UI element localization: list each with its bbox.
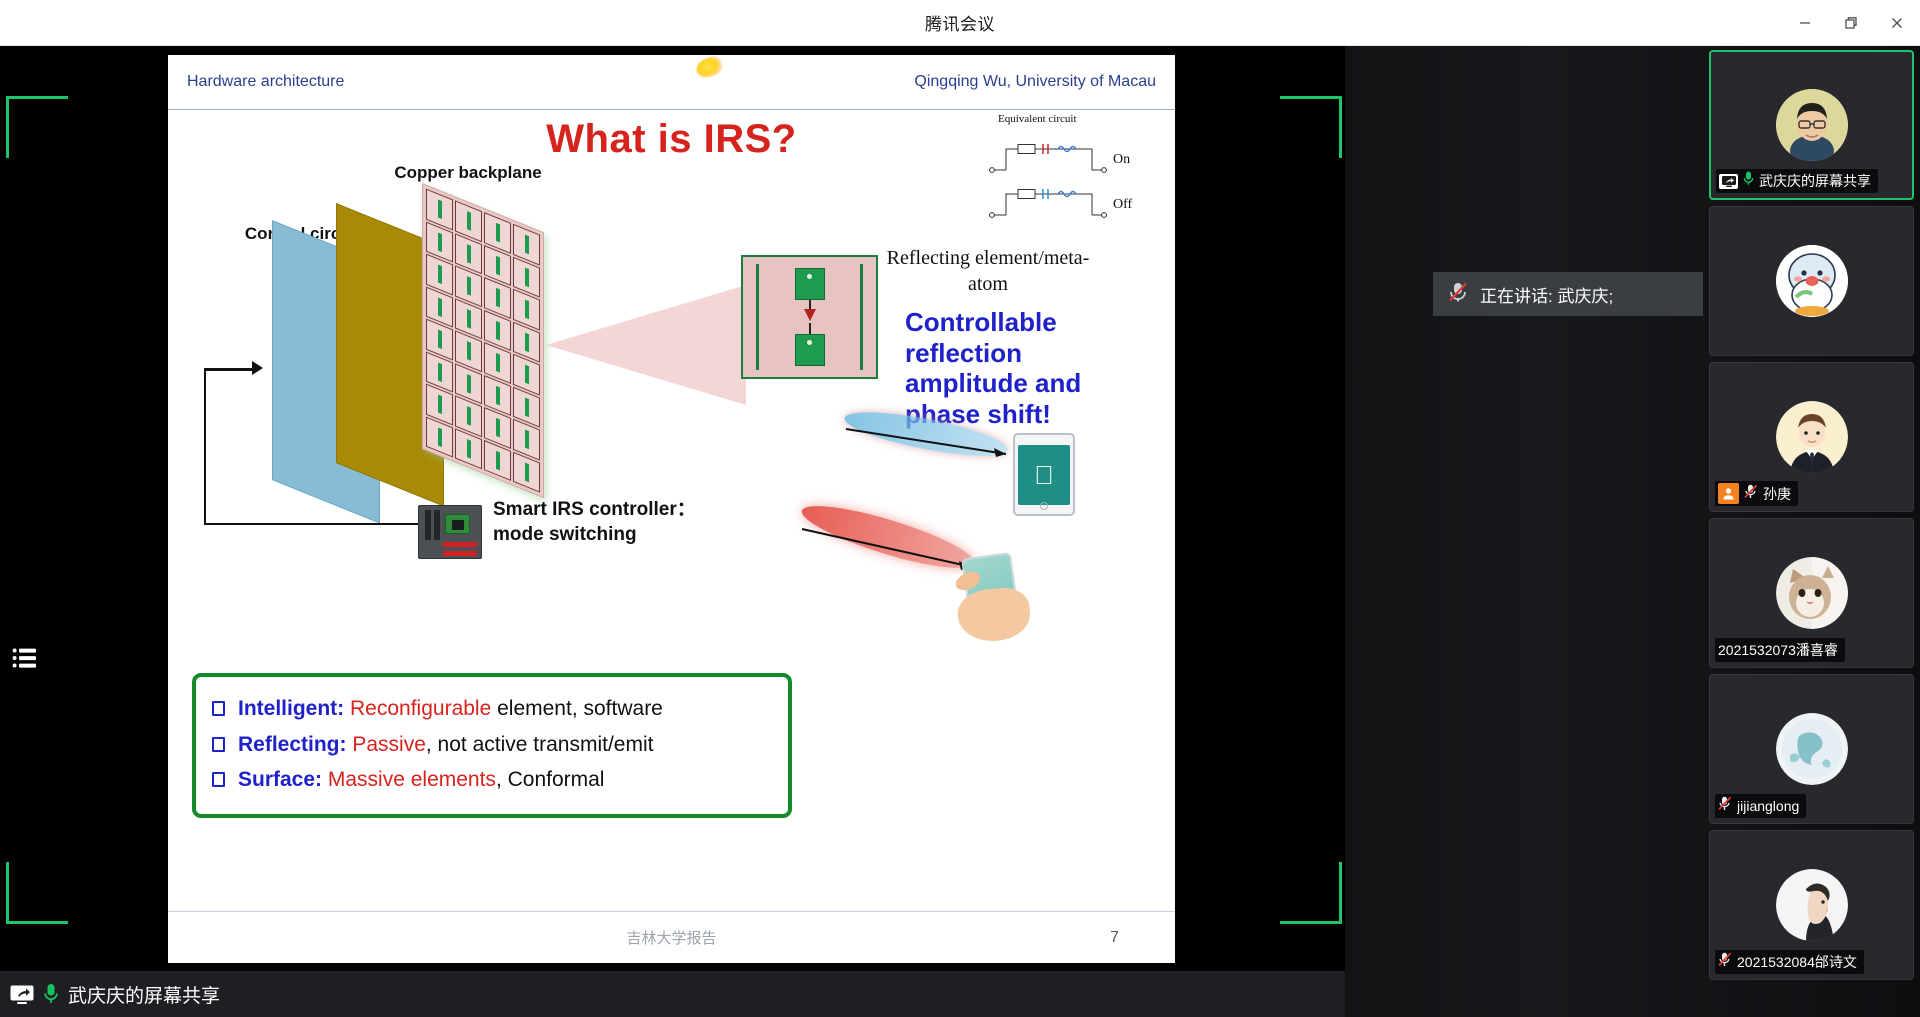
- avatar: [1776, 557, 1848, 629]
- window-titlebar: 腾讯会议: [0, 0, 1920, 46]
- avatar: [1776, 245, 1848, 317]
- circuit-on-icon: [988, 143, 1110, 177]
- bullet-rest: element, software: [491, 697, 663, 720]
- screen-share-badge-icon: [1719, 174, 1738, 189]
- circuit-off-icon: [988, 188, 1110, 222]
- meta-atom-pad-bottom: [795, 334, 825, 366]
- label-reflecting-element: Reflecting element/meta-atom: [883, 245, 1093, 297]
- avatar: [1776, 869, 1848, 941]
- microphone-muted-icon: [1718, 796, 1732, 816]
- label-smart-irs-controller: Smart IRS controller：mode switching: [493, 498, 743, 547]
- tile-footer: 2021532084邰诗文: [1715, 950, 1864, 974]
- avatar-photo-woman: [1776, 869, 1848, 941]
- bullet-highlight: Reconfigurable: [350, 697, 491, 720]
- feedback-line-top: [204, 368, 256, 371]
- microphone-muted-icon: [1744, 484, 1758, 504]
- reflecting-element-array-panel: [422, 183, 544, 498]
- irs-controller-board-icon: [418, 505, 482, 559]
- screen-share-icon: [10, 985, 34, 1004]
- element-grid: [426, 189, 540, 493]
- checkbox-icon: [212, 701, 225, 716]
- circuit-state-off-label: Off: [1113, 197, 1132, 213]
- meta-atom-pad-top: [795, 268, 825, 300]
- microphone-muted-icon: [1447, 281, 1469, 308]
- slide-header: Hardware architecture Qingqing Wu, Unive…: [168, 55, 1175, 110]
- presentation-slide: Hardware architecture Qingqing Wu, Unive…: [168, 55, 1175, 963]
- microphone-icon: [43, 983, 59, 1005]
- label-copper-backplane: Copper backplane: [368, 163, 568, 183]
- speaking-toast: 正在讲话: 武庆庆;: [1433, 272, 1703, 316]
- bottom-share-label: 武庆庆的屏幕共享: [68, 981, 220, 1008]
- bullet-rest: , not active transmit/emit: [426, 733, 654, 756]
- beam-blue-arrow-icon: [840, 415, 1030, 465]
- zoom-callout-wedge: [546, 285, 746, 405]
- avatar: [1776, 89, 1848, 161]
- slide-list-button[interactable]: [10, 643, 40, 673]
- host-badge-icon: [1718, 483, 1739, 504]
- tile-footer: 孙庚: [1715, 481, 1798, 506]
- participant-name: 2021532084邰诗文: [1737, 952, 1857, 972]
- participant-rail: 武庆庆的屏幕共享: [1345, 46, 1920, 1017]
- tile-footer: 武庆庆的屏幕共享: [1716, 169, 1878, 193]
- tile-footer: jijianglong: [1715, 794, 1806, 818]
- window-controls: [1782, 0, 1920, 46]
- circuit-state-on-label: On: [1113, 152, 1130, 168]
- bullet-highlight: Passive: [352, 733, 426, 756]
- participant-name: 孙庚: [1763, 484, 1791, 504]
- microphone-muted-icon: [1718, 952, 1732, 972]
- close-button[interactable]: [1874, 0, 1920, 46]
- avatar: [1776, 713, 1848, 785]
- slide-footer-text: 吉林大学报告: [168, 927, 1175, 948]
- participant-name: 2021532073潘喜睿: [1718, 640, 1838, 660]
- participant-tile-tai-shiwen[interactable]: 2021532084邰诗文: [1709, 830, 1914, 980]
- window-title: 腾讯会议: [925, 10, 995, 35]
- equivalent-circuit-off: Off: [988, 188, 1110, 227]
- hand-with-phone-icon: [958, 555, 1038, 641]
- participant-list: 武庆庆的屏幕共享: [1709, 50, 1914, 1013]
- maximize-restore-button[interactable]: [1828, 0, 1874, 46]
- tencent-meeting-window: 腾讯会议: [0, 0, 1920, 1017]
- tablet-device-icon: : [1013, 433, 1075, 516]
- bullet-key: Intelligent:: [238, 697, 344, 720]
- list-item: Reflecting: Passive, not active transmit…: [212, 727, 770, 763]
- key-points-box: Intelligent: Reconfigurable element, sof…: [192, 673, 792, 818]
- bullet-key: Reflecting:: [238, 733, 347, 756]
- bullet-key: Surface:: [238, 768, 322, 791]
- participant-name: 武庆庆的屏幕共享: [1759, 171, 1871, 191]
- slide-author-label: Qingqing Wu, University of Macau: [914, 73, 1156, 91]
- list-item: Surface: Massive elements, Conformal: [212, 762, 770, 798]
- microphone-icon: [1743, 171, 1754, 191]
- tablet-home-button-icon: [1040, 502, 1048, 510]
- participant-name: jijianglong: [1737, 798, 1799, 814]
- avatar-photo-globe: [1776, 713, 1848, 785]
- pin-diode-icon: [804, 309, 816, 321]
- list-icon: [12, 647, 38, 669]
- participant-tile-sun-geng[interactable]: 孙庚: [1709, 362, 1914, 512]
- slide-section-label: Hardware architecture: [187, 73, 344, 91]
- controller-feedback-line: [204, 368, 418, 525]
- checkbox-icon: [212, 772, 225, 787]
- avatar-cartoon-man-suit: [1776, 401, 1848, 473]
- label-controllable-reflection: Controllable reflection amplitude and ph…: [905, 307, 1145, 430]
- bullet-rest: , Conformal: [496, 768, 605, 791]
- list-item: Intelligent: Reconfigurable element, sof…: [212, 691, 770, 727]
- checkbox-icon: [212, 737, 225, 752]
- tablet-screen: : [1018, 445, 1070, 505]
- slide-page-number: 7: [1110, 929, 1119, 947]
- participant-tile-pan-xirui[interactable]: 2021532073潘喜睿: [1709, 518, 1914, 668]
- avatar-cartoon-penguin: [1776, 245, 1848, 317]
- participant-tile-wu-qingqing-share[interactable]: 武庆庆的屏幕共享: [1709, 50, 1914, 200]
- slide-footer: 吉林大学报告 7: [168, 911, 1175, 963]
- bottom-share-bar: 武庆庆的屏幕共享: [0, 971, 1345, 1017]
- meta-atom-detail-box: [741, 255, 878, 379]
- equivalent-circuit-on: On: [988, 143, 1110, 182]
- avatar-photo-man-glasses: [1776, 89, 1848, 161]
- equivalent-circuit-caption: Equivalent circuit: [998, 113, 1077, 125]
- avatar: [1776, 401, 1848, 473]
- minimize-button[interactable]: [1782, 0, 1828, 46]
- participant-tile-2[interactable]: [1709, 206, 1914, 356]
- participant-tile-jijianglong[interactable]: jijianglong: [1709, 674, 1914, 824]
- bullet-highlight: Massive elements: [328, 768, 496, 791]
- speaking-toast-text: 正在讲话: 武庆庆;: [1480, 282, 1613, 307]
- avatar-photo-cat: [1776, 557, 1848, 629]
- shared-screen-stage: Hardware architecture Qingqing Wu, Unive…: [0, 46, 1345, 1017]
- tile-footer: 2021532073潘喜睿: [1715, 638, 1845, 662]
